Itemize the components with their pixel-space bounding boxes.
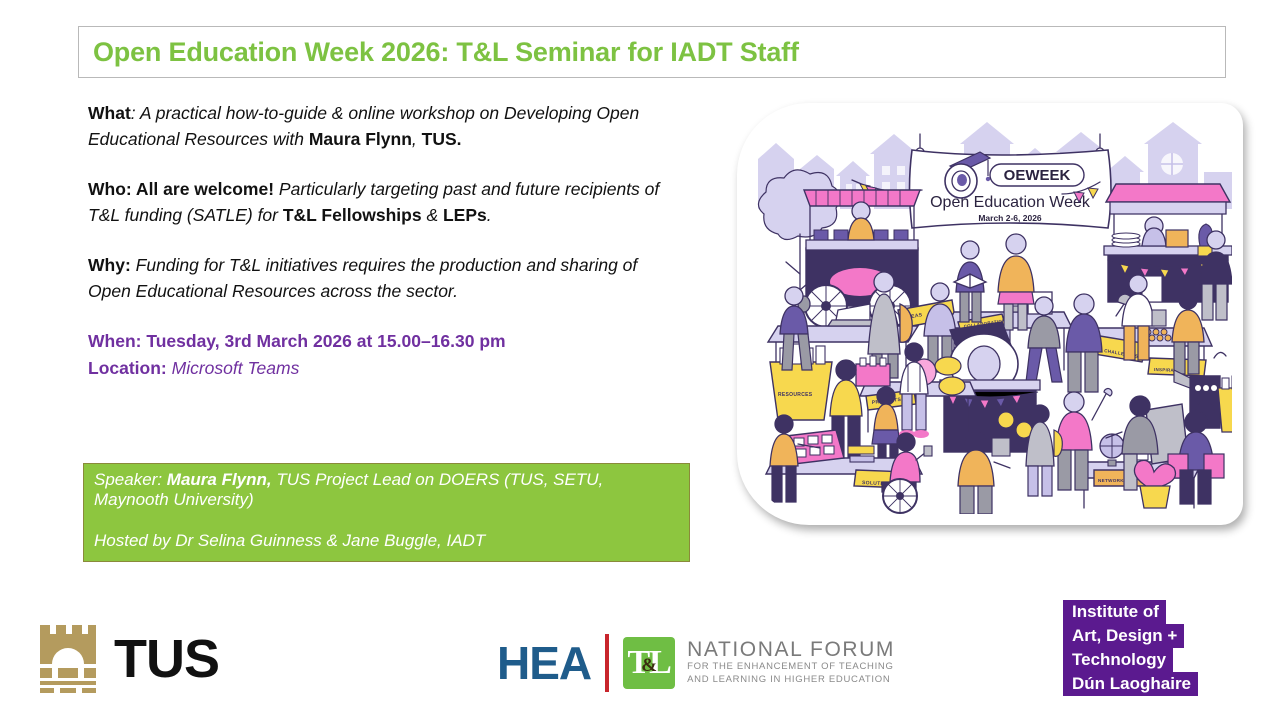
page-title-box: Open Education Week 2026: T&L Seminar fo…: [78, 26, 1226, 78]
tus-logo: TUS: [38, 625, 219, 693]
why-label: Why:: [88, 255, 131, 275]
location-value: Microsoft Teams: [167, 358, 300, 378]
when-location-block: When: Tuesday, 3rd March 2026 at 15.00–1…: [88, 328, 683, 382]
tus-castle-icon: [38, 625, 98, 693]
when-line: When: Tuesday, 3rd March 2026 at 15.00–1…: [88, 328, 683, 355]
location-line: Location: Microsoft Teams: [88, 355, 683, 382]
what-label: What: [88, 103, 131, 123]
when-value: Tuesday, 3rd March 2026 at 15.00–16.30 p…: [141, 331, 505, 351]
speaker-line: Speaker: Maura Flynn, TUS Project Lead o…: [94, 470, 679, 510]
speaker-info-box: Speaker: Maura Flynn, TUS Project Lead o…: [83, 463, 690, 562]
illustration-frame: .lav{fill:#D6D2EF}.lav2{fill:#C6C0E8}.dp…: [748, 114, 1232, 514]
page-title: Open Education Week 2026: T&L Seminar fo…: [79, 37, 799, 68]
tl-mark-icon: TL &: [623, 637, 675, 689]
iadt-line-3: Technology: [1063, 648, 1173, 672]
who-text-2: &: [422, 205, 443, 225]
who-bold-fellowships: T&L Fellowships: [283, 205, 422, 225]
oeweek-logo-text: OEWEEK: [1004, 167, 1071, 184]
iadt-line-2: Art, Design +: [1063, 624, 1184, 648]
who-paragraph: Who: All are welcome! Particularly targe…: [88, 176, 683, 228]
illustration-card: .lav{fill:#D6D2EF}.lav2{fill:#C6C0E8}.dp…: [737, 103, 1243, 525]
speaker-label: Speaker:: [94, 470, 162, 489]
what-paragraph: What: A practical how-to-guide & online …: [88, 100, 683, 152]
iadt-line-1: Institute of: [1063, 600, 1166, 624]
hea-wordmark: HEA: [497, 640, 591, 686]
stall-label-resources: RESOURCES: [778, 392, 813, 398]
open-education-week-illustration: .lav{fill:#D6D2EF}.lav2{fill:#C6C0E8}.dp…: [748, 114, 1232, 514]
who-text-3: .: [487, 205, 492, 225]
why-text: Funding for T&L initiatives requires the…: [88, 255, 637, 301]
why-paragraph: Why: Funding for T&L initiatives require…: [88, 252, 683, 304]
what-speaker-name: Maura Flynn: [309, 129, 412, 149]
what-org: TUS.: [422, 129, 462, 149]
hea-divider: [605, 634, 609, 692]
iadt-logo: Institute of Art, Design + Technology Dú…: [1063, 600, 1239, 696]
who-label: Who: All are welcome!: [88, 179, 274, 199]
hea-national-forum-logo: HEA TL & NATIONAL FORUM FOR THE ENHANCEM…: [497, 634, 895, 692]
who-bold-leps: LEPs: [443, 205, 487, 225]
hosted-by-line: Hosted by Dr Selina Guinness & Jane Bugg…: [94, 531, 679, 551]
national-forum-sub1: FOR THE ENHANCEMENT OF TEACHING: [687, 661, 895, 674]
when-label: When:: [88, 331, 141, 351]
what-text-2: ,: [412, 129, 422, 149]
national-forum-title: NATIONAL FORUM: [687, 639, 895, 661]
tus-wordmark: TUS: [114, 632, 219, 686]
national-forum-text: NATIONAL FORUM FOR THE ENHANCEMENT OF TE…: [687, 639, 895, 687]
location-label: Location:: [88, 358, 167, 378]
speaker-name: Maura Flynn,: [167, 470, 272, 489]
tl-ampersand: &: [641, 655, 657, 677]
description-column: What: A practical how-to-guide & online …: [88, 100, 683, 382]
iadt-line-4: Dún Laoghaire: [1063, 672, 1198, 696]
national-forum-sub2: AND LEARNING IN HIGHER EDUCATION: [687, 674, 895, 687]
banner-dates: March 2-6, 2026: [978, 213, 1042, 223]
banner-title: Open Education Week: [930, 194, 1091, 211]
